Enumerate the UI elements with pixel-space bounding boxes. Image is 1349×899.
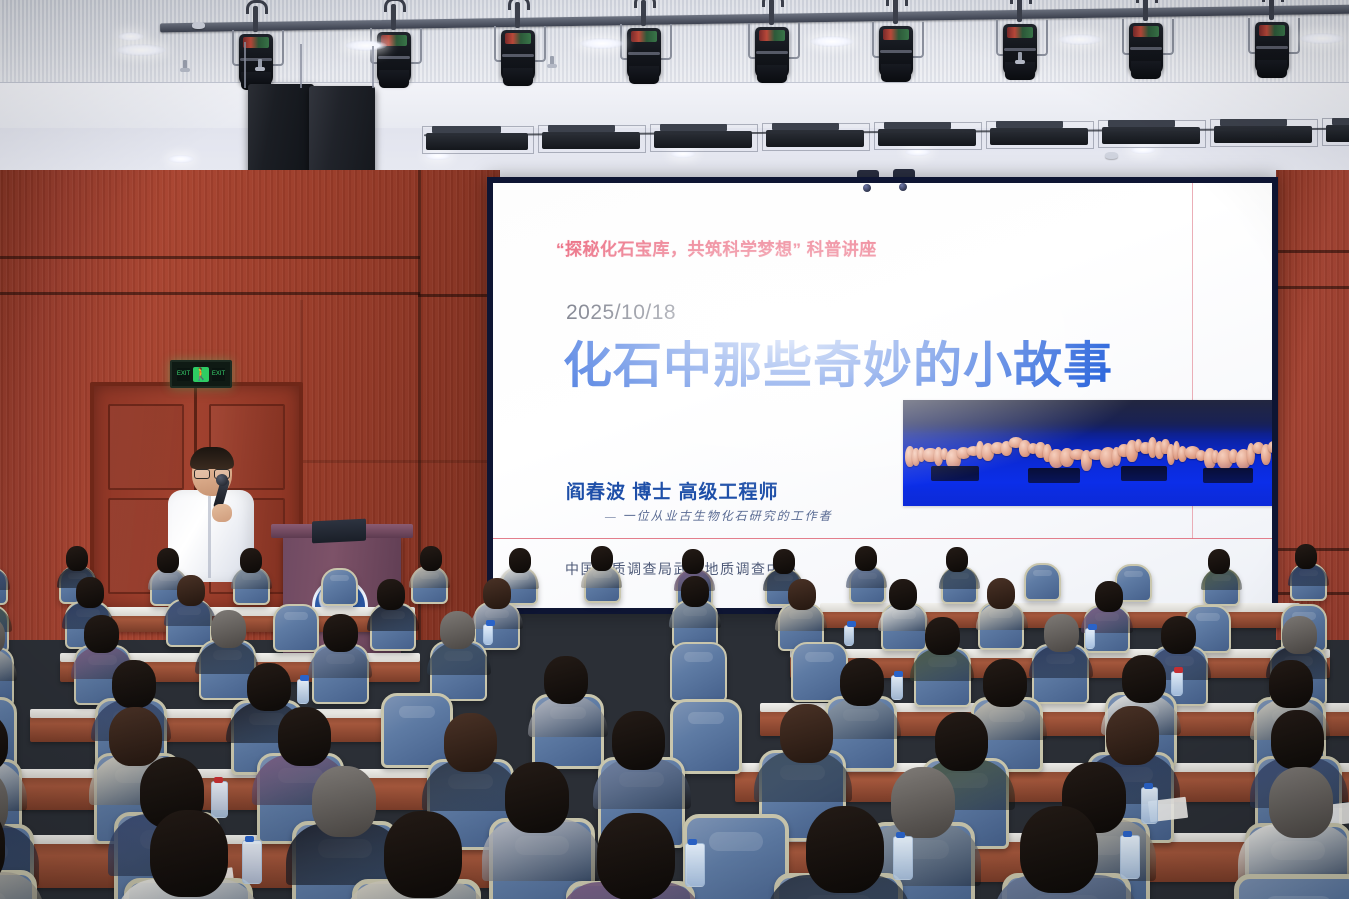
audience-member-head bbox=[84, 615, 119, 653]
water-bottle bbox=[242, 840, 262, 884]
lecture-hall-photo: // first par can lacks children in marku… bbox=[0, 0, 1349, 899]
audience-member-head bbox=[440, 611, 475, 649]
audience-member-head bbox=[1269, 660, 1313, 708]
audience-member-head bbox=[1161, 616, 1196, 654]
audience-member-head bbox=[935, 712, 988, 771]
audience-member-head bbox=[591, 546, 613, 571]
smoke-detector-icon bbox=[1105, 152, 1118, 159]
running-man-icon: 🚶 bbox=[193, 367, 209, 382]
audience-member-head bbox=[323, 614, 358, 652]
audience-member-head bbox=[483, 578, 511, 609]
sprinkler-head-icon bbox=[550, 56, 554, 66]
audience-member-head bbox=[597, 813, 675, 899]
audience-member-head bbox=[66, 546, 88, 571]
audience-member-head bbox=[946, 547, 968, 572]
audience-member-head bbox=[312, 766, 376, 837]
audience-member-head bbox=[773, 549, 795, 574]
audience-member-head bbox=[780, 704, 833, 763]
audience-member-head bbox=[681, 576, 709, 607]
exit-sign-text-right: EXIT bbox=[212, 368, 225, 381]
slide-title: 化石中那些奇妙的小故事 bbox=[563, 326, 1113, 397]
audience-member-head bbox=[109, 707, 162, 766]
slide-presenter-name: 阎春波 博士 高级工程师 bbox=[566, 477, 779, 504]
stage-light bbox=[494, 24, 542, 86]
audience-member-head bbox=[377, 579, 405, 610]
audience-member-head bbox=[788, 579, 816, 610]
audience-chair bbox=[273, 604, 319, 652]
sprinkler-head-icon bbox=[258, 59, 262, 69]
audience-member-head bbox=[505, 762, 569, 833]
slide-fossil-image bbox=[903, 400, 1272, 506]
stage-light bbox=[232, 28, 280, 90]
audience-member-head bbox=[420, 546, 442, 571]
water-bottle bbox=[211, 781, 228, 818]
audience-member-head bbox=[891, 767, 955, 838]
audience-member-head bbox=[1044, 614, 1079, 652]
audience-member-head bbox=[177, 575, 205, 606]
ceiling-downlight bbox=[580, 38, 624, 49]
slide-date: 2025/10/18 bbox=[566, 301, 676, 325]
audience-chair bbox=[1024, 563, 1061, 601]
stage-light bbox=[370, 26, 418, 88]
water-bottle bbox=[1120, 835, 1140, 879]
audience-member-head bbox=[211, 610, 246, 648]
stage-light bbox=[1248, 16, 1296, 78]
ceiling-downlight bbox=[168, 155, 194, 163]
desk-surface bbox=[95, 607, 415, 616]
audience-member-head bbox=[1295, 544, 1317, 569]
sprinkler-head-icon bbox=[183, 60, 187, 70]
audience-member-head bbox=[806, 806, 884, 893]
slide-presenter-subtitle: — 一位从业古生物化石研究的工作者 bbox=[605, 507, 833, 524]
stage-light bbox=[1122, 17, 1170, 79]
stage-light bbox=[620, 22, 668, 84]
audience-chair bbox=[791, 642, 848, 702]
audience-member-head bbox=[1271, 710, 1324, 769]
audience-member-head bbox=[384, 811, 462, 898]
audience-member-head bbox=[612, 711, 665, 770]
audience-member-head bbox=[987, 578, 1015, 609]
water-bottle bbox=[1085, 628, 1095, 649]
audience-member-head bbox=[682, 549, 704, 574]
audience-member-head bbox=[1282, 616, 1317, 654]
audience-member-head bbox=[1106, 706, 1159, 765]
speaker-suspension-wire bbox=[372, 46, 374, 88]
audience-member-head bbox=[1095, 581, 1123, 612]
water-bottle bbox=[893, 836, 913, 880]
audience-member-head bbox=[855, 546, 877, 571]
water-bottle bbox=[685, 843, 705, 887]
ceiling-downlight bbox=[1058, 34, 1102, 45]
audience-chair bbox=[321, 568, 358, 606]
stage-light bbox=[872, 20, 920, 82]
audience-member-head bbox=[544, 656, 588, 704]
audience-member-head bbox=[840, 658, 884, 706]
audience-member-head bbox=[247, 663, 291, 711]
audience-member-head bbox=[925, 617, 960, 655]
ceiling-downlight bbox=[118, 32, 144, 41]
audience-member-head bbox=[1020, 806, 1098, 893]
water-bottle bbox=[891, 675, 903, 700]
audience-member-head bbox=[509, 548, 531, 573]
speaker-suspension-wire bbox=[244, 42, 246, 88]
audience-member-head bbox=[444, 713, 497, 772]
ceiling-downlight bbox=[345, 40, 387, 51]
water-bottle bbox=[1141, 787, 1158, 824]
audience-chair bbox=[670, 642, 727, 702]
audience-member-head bbox=[112, 660, 156, 708]
audience-member-head bbox=[150, 810, 228, 897]
audience-area bbox=[0, 540, 1349, 899]
ceiling-downlight bbox=[810, 36, 854, 47]
audience-chair bbox=[381, 693, 453, 768]
water-bottle bbox=[297, 679, 309, 704]
speaker-suspension-wire bbox=[300, 44, 302, 88]
audience-member-head bbox=[1122, 655, 1166, 703]
audience-member-torso bbox=[0, 568, 10, 590]
slide-kicker-text: “探秘化石宝库，共筑科学梦想” 科普讲座 bbox=[556, 235, 877, 260]
audience-desk bbox=[0, 776, 470, 810]
audience-member-head bbox=[240, 548, 262, 573]
ceiling-downlight bbox=[116, 44, 166, 56]
slide-horizontal-rule bbox=[493, 538, 1272, 539]
audience-member-head bbox=[983, 659, 1027, 707]
exit-sign: EXIT 🚶 EXIT bbox=[170, 360, 232, 388]
audience-chair bbox=[1234, 874, 1349, 899]
smoke-detector-icon bbox=[192, 22, 205, 29]
water-bottle bbox=[483, 624, 493, 645]
exit-sign-text-left: EXIT bbox=[177, 368, 190, 381]
water-bottle bbox=[844, 625, 854, 646]
water-bottle bbox=[1171, 671, 1183, 696]
audience-member-head bbox=[889, 579, 917, 610]
stage-light bbox=[996, 18, 1044, 80]
audience-member-head bbox=[278, 707, 331, 766]
audience-member-head bbox=[76, 577, 104, 608]
audience-member-head bbox=[1269, 767, 1333, 838]
audience-member-head bbox=[1208, 549, 1230, 574]
sprinkler-head-icon bbox=[1018, 52, 1022, 62]
stage-light bbox=[748, 21, 796, 83]
ceiling-downlight bbox=[1300, 33, 1344, 44]
audience-member-head bbox=[157, 548, 179, 573]
